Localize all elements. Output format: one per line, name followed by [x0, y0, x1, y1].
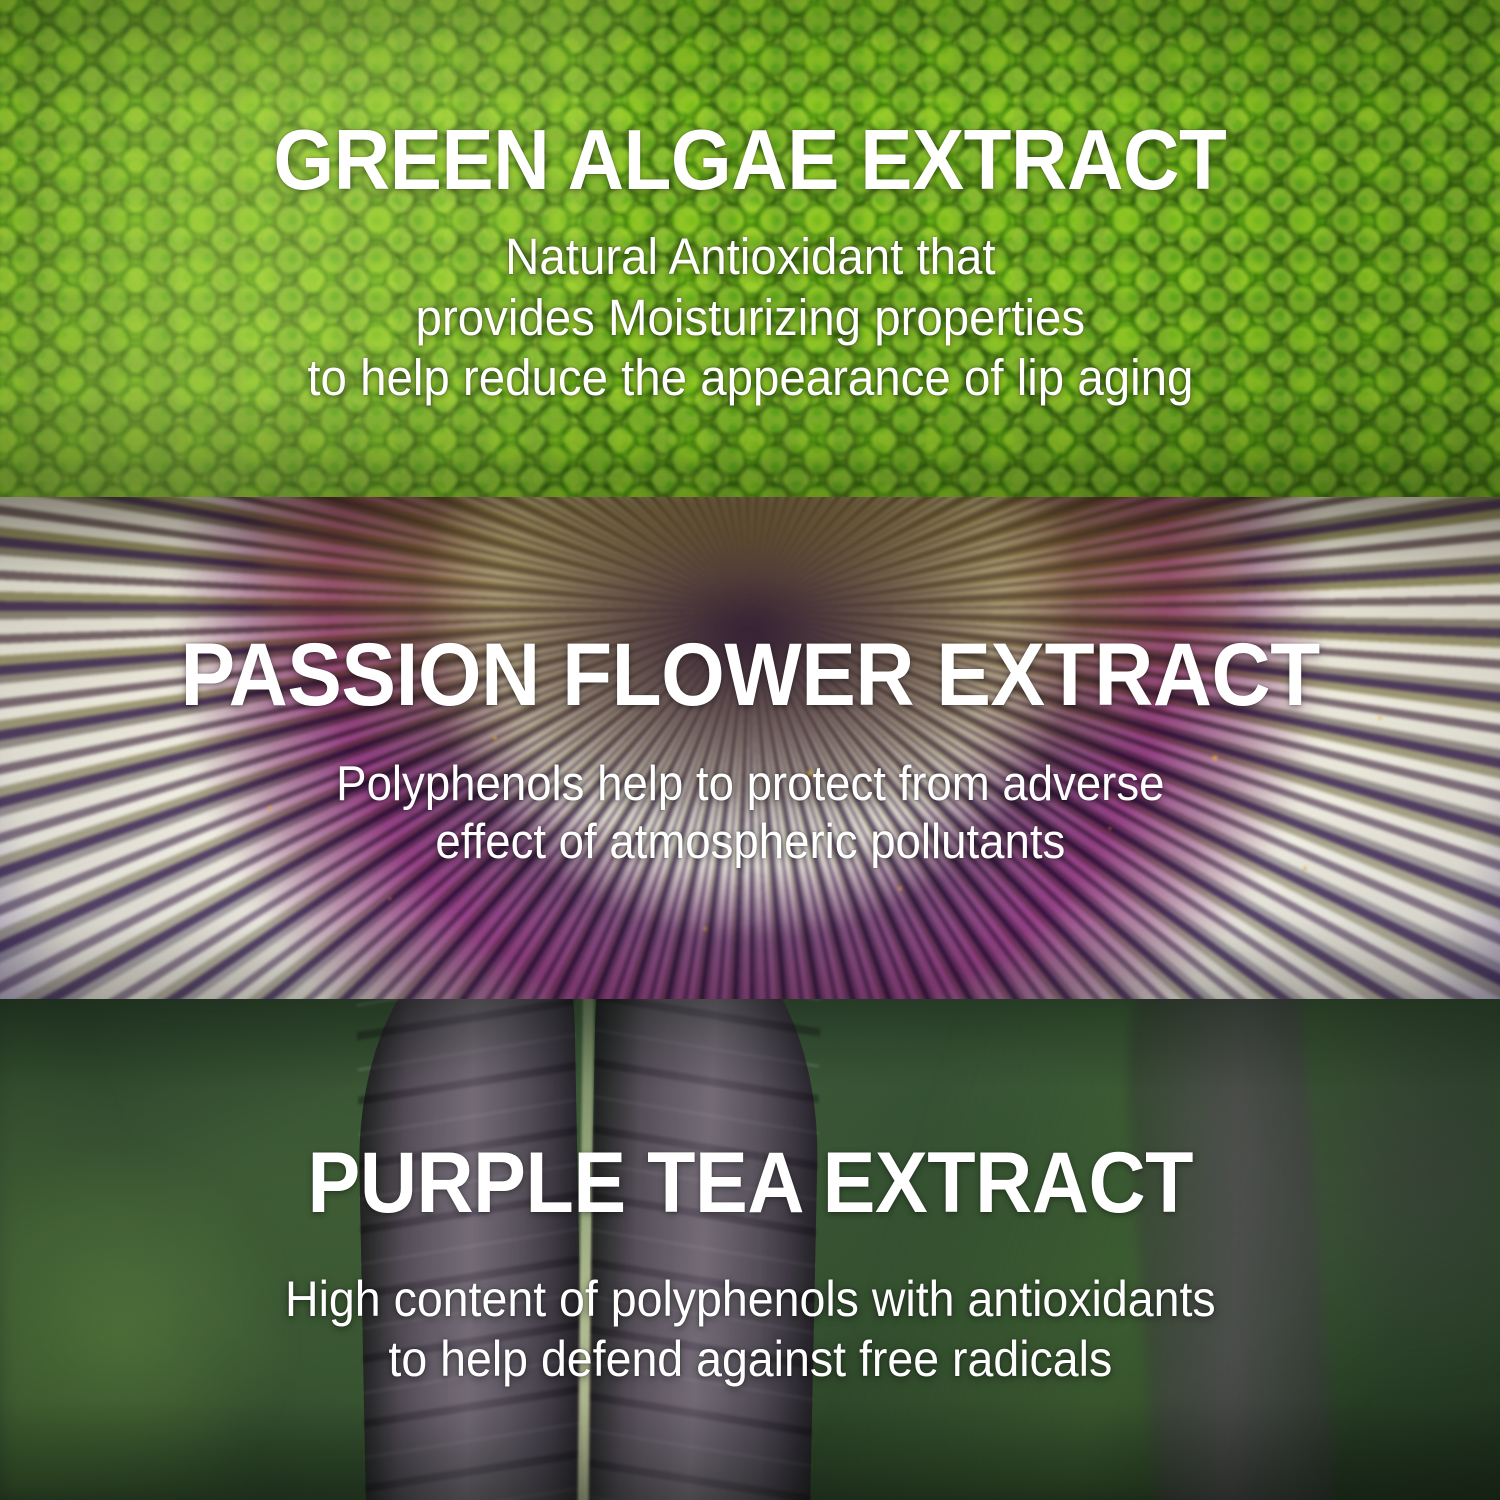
body-line: High content of polyphenols with antioxi…	[285, 1270, 1216, 1330]
panel-passion-flower-heading: PASSION FLOWER EXTRACT	[180, 630, 1319, 719]
panel-green-algae-heading: GREEN ALGAE EXTRACT	[274, 118, 1227, 203]
panel-passion-flower-body: Polyphenols help to protect from adverse…	[336, 755, 1164, 872]
ingredient-infographic: GREEN ALGAE EXTRACT Natural Antioxidant …	[0, 0, 1500, 1500]
body-line: Polyphenols help to protect from adverse	[336, 755, 1164, 813]
body-line: Natural Antioxidant that	[307, 227, 1193, 288]
body-line: provides Moisturizing properties	[307, 288, 1193, 349]
body-line: effect of atmospheric pollutants	[336, 813, 1164, 871]
panel-passion-flower: PASSION FLOWER EXTRACT Polyphenols help …	[0, 497, 1500, 999]
body-line: to help defend against free radicals	[285, 1330, 1216, 1390]
body-line: to help reduce the appearance of lip agi…	[307, 348, 1193, 409]
panel-green-algae: GREEN ALGAE EXTRACT Natural Antioxidant …	[0, 0, 1500, 497]
panel-purple-tea-heading: PURPLE TEA EXTRACT	[307, 1140, 1193, 1226]
panel-green-algae-body: Natural Antioxidant that provides Moistu…	[307, 227, 1193, 409]
panel-purple-tea: PURPLE TEA EXTRACT High content of polyp…	[0, 999, 1500, 1500]
panel-purple-tea-body: High content of polyphenols with antioxi…	[285, 1270, 1216, 1389]
